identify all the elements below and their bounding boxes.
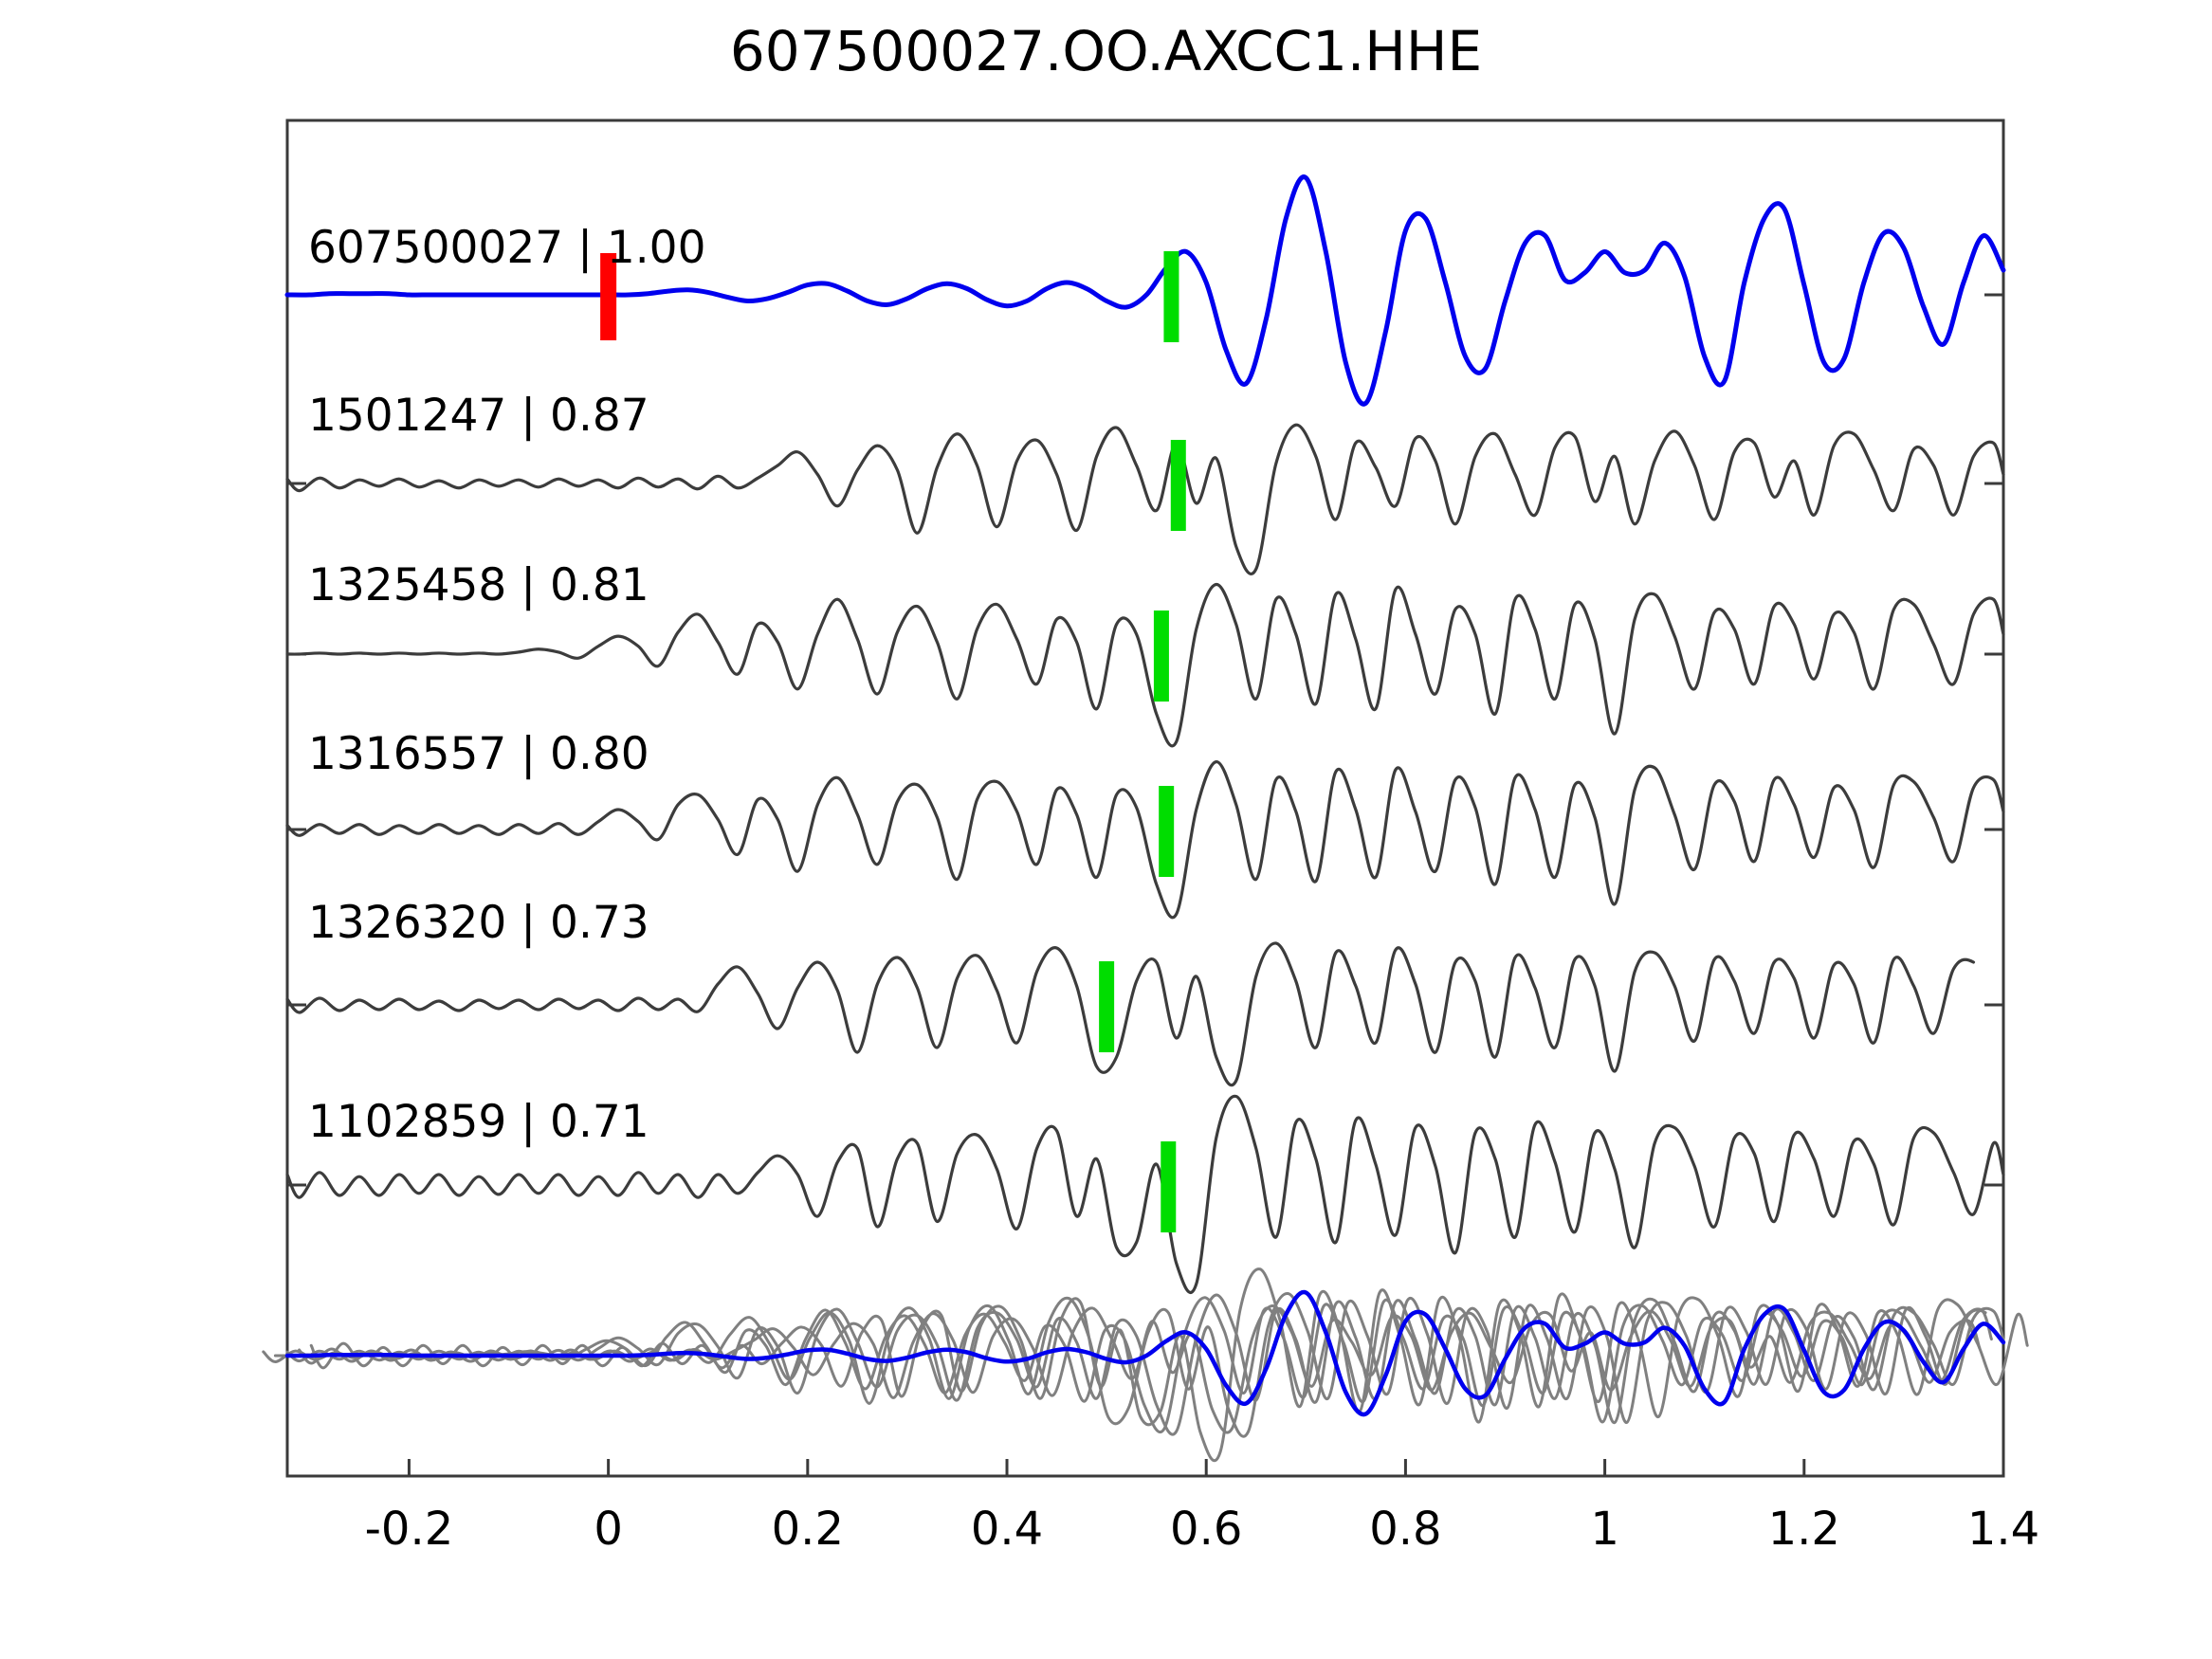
- x-tick-label: 1: [1590, 1503, 1619, 1556]
- trace-label: 1325458 | 0.81: [308, 563, 649, 608]
- overlay-detection-trace: [275, 1298, 1991, 1432]
- s-pick-marker: [1171, 440, 1186, 531]
- x-axis-ticks: [409, 1459, 2003, 1476]
- x-tick-label: 0.4: [971, 1503, 1043, 1556]
- phase-pick-markers: [600, 251, 1186, 1232]
- s-pick-marker: [1163, 251, 1179, 342]
- trace-label: 1501247 | 0.87: [308, 393, 649, 438]
- waveform-trace: [287, 943, 1973, 1085]
- s-pick-marker: [1161, 1141, 1176, 1232]
- overlay-waveforms: [264, 1269, 2027, 1461]
- x-tick-label: 0.6: [1170, 1503, 1242, 1556]
- x-tick-label: 0.8: [1369, 1503, 1441, 1556]
- x-tick-label: 0.2: [772, 1503, 844, 1556]
- s-pick-marker: [1154, 611, 1169, 702]
- trace-label: 1326320 | 0.73: [308, 901, 649, 945]
- x-tick-label: 0: [594, 1503, 623, 1556]
- seismogram-figure: 607500027.OO.AXCC1.HHE 607500027 | 1.001…: [0, 0, 2212, 1659]
- x-tick-label: -0.2: [365, 1503, 454, 1556]
- s-pick-marker: [1159, 786, 1174, 877]
- trace-label: 1102859 | 0.71: [308, 1100, 649, 1144]
- waveform-trace: [287, 425, 2003, 574]
- trace-label: 1316557 | 0.80: [308, 732, 649, 776]
- waveform-trace: [287, 762, 2003, 918]
- s-pick-marker: [1099, 961, 1114, 1052]
- waveform-trace: [287, 177, 2003, 405]
- x-tick-label: 1.4: [1967, 1503, 2039, 1556]
- axes-frame: [287, 120, 2003, 1476]
- x-tick-label: 1.2: [1768, 1503, 1840, 1556]
- trace-label: 607500027 | 1.00: [308, 226, 706, 270]
